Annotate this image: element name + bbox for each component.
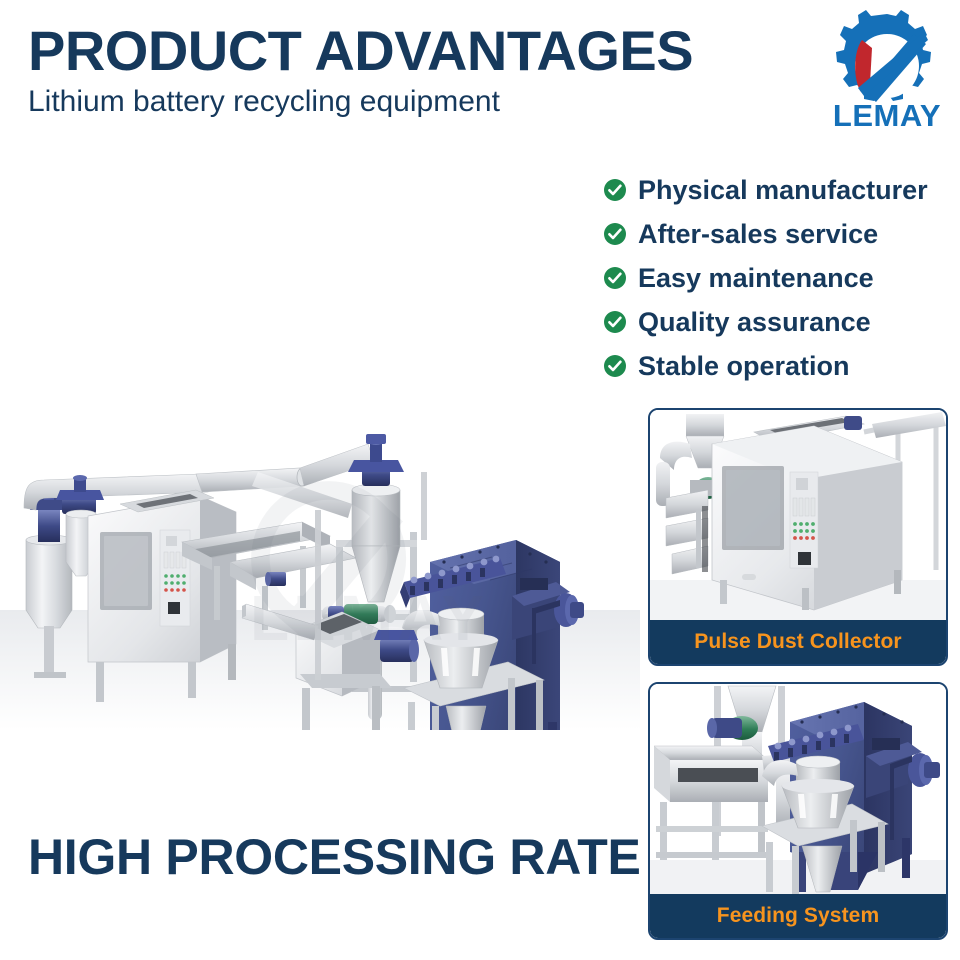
feature-label: Stable operation: [638, 353, 850, 380]
list-item: Stable operation: [603, 344, 953, 388]
feature-label: Easy maintenance: [638, 265, 874, 292]
thumbnail-card-feeding-system[interactable]: Feeding System: [648, 682, 948, 940]
thumbnail-caption: Feeding System: [650, 894, 946, 938]
list-item: Easy maintenance: [603, 256, 953, 300]
thumbnail-card-pulse-dust-collector[interactable]: Pulse Dust Collector: [648, 408, 948, 666]
lemay-wordmark: LEMAY: [833, 98, 941, 132]
lemay-logo: LEMAY: [828, 8, 946, 132]
page-title: PRODUCT ADVANTAGES: [28, 22, 693, 79]
header: PRODUCT ADVANTAGES Lithium battery recyc…: [0, 0, 960, 150]
title-block: PRODUCT ADVANTAGES Lithium battery recyc…: [28, 22, 693, 120]
thumbnail-photo: [650, 684, 946, 896]
check-circle-icon: [603, 178, 627, 202]
poster-root: PRODUCT ADVANTAGES Lithium battery recyc…: [0, 0, 960, 960]
thumbnail-photo: [650, 410, 946, 622]
feature-list: Physical manufacturer After-sales servic…: [603, 168, 953, 388]
hero-product-image: LEMAY: [0, 210, 640, 730]
svg-text:LEMAY: LEMAY: [833, 98, 941, 132]
list-item: Physical manufacturer: [603, 168, 953, 212]
feature-label: Physical manufacturer: [638, 177, 928, 204]
tray-vibrator-motor: [265, 572, 286, 586]
list-item: After-sales service: [603, 212, 953, 256]
thumbnail-caption: Pulse Dust Collector: [650, 620, 946, 664]
list-item: Quality assurance: [603, 300, 953, 344]
bottom-headline: HIGH PROCESSING RATE: [28, 832, 641, 882]
page-subtitle: Lithium battery recycling equipment: [28, 85, 693, 120]
cabinet: [712, 426, 902, 610]
feature-label: Quality assurance: [638, 309, 871, 336]
gear-z-icon: [836, 10, 931, 102]
feature-label: After-sales service: [638, 221, 878, 248]
